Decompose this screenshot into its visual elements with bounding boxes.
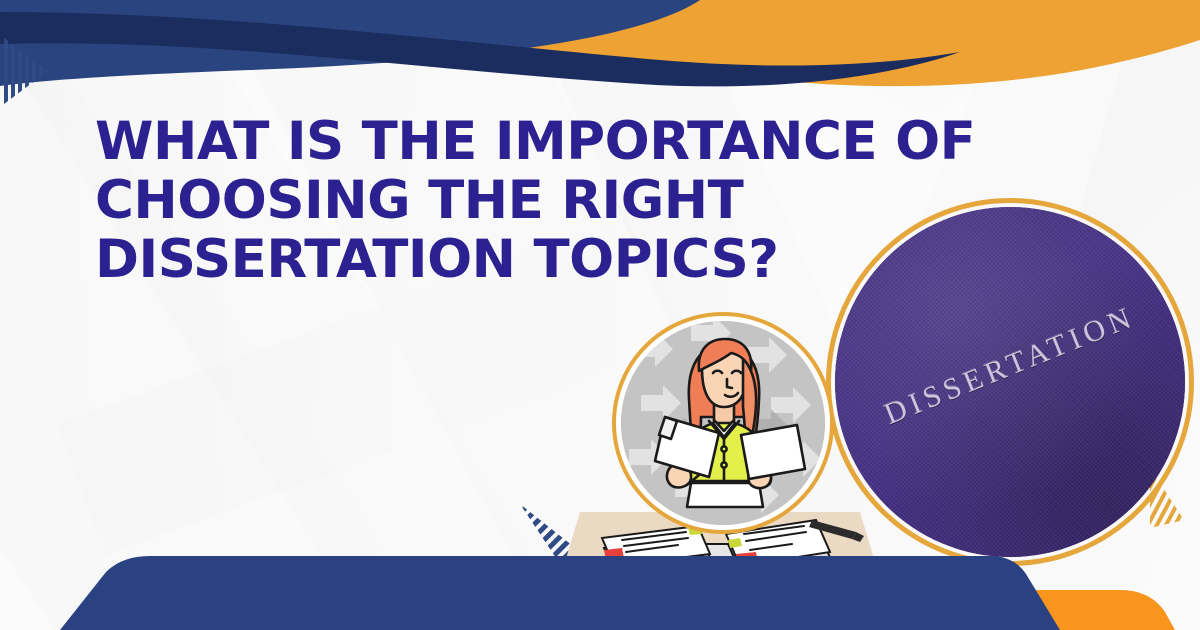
student-illustration	[621, 321, 825, 525]
bottom-decoration	[0, 550, 1200, 630]
student-illustration-circle	[612, 312, 834, 534]
book-cover-disc: DISSERTATION	[835, 207, 1185, 557]
left-striped-triangle-icon	[4, 38, 48, 104]
dissertation-book-circle: DISSERTATION	[826, 198, 1194, 566]
illustration-disc	[621, 321, 825, 525]
banner-canvas: WHAT IS THE IMPORTANCE OF CHOOSING THE R…	[0, 0, 1200, 630]
